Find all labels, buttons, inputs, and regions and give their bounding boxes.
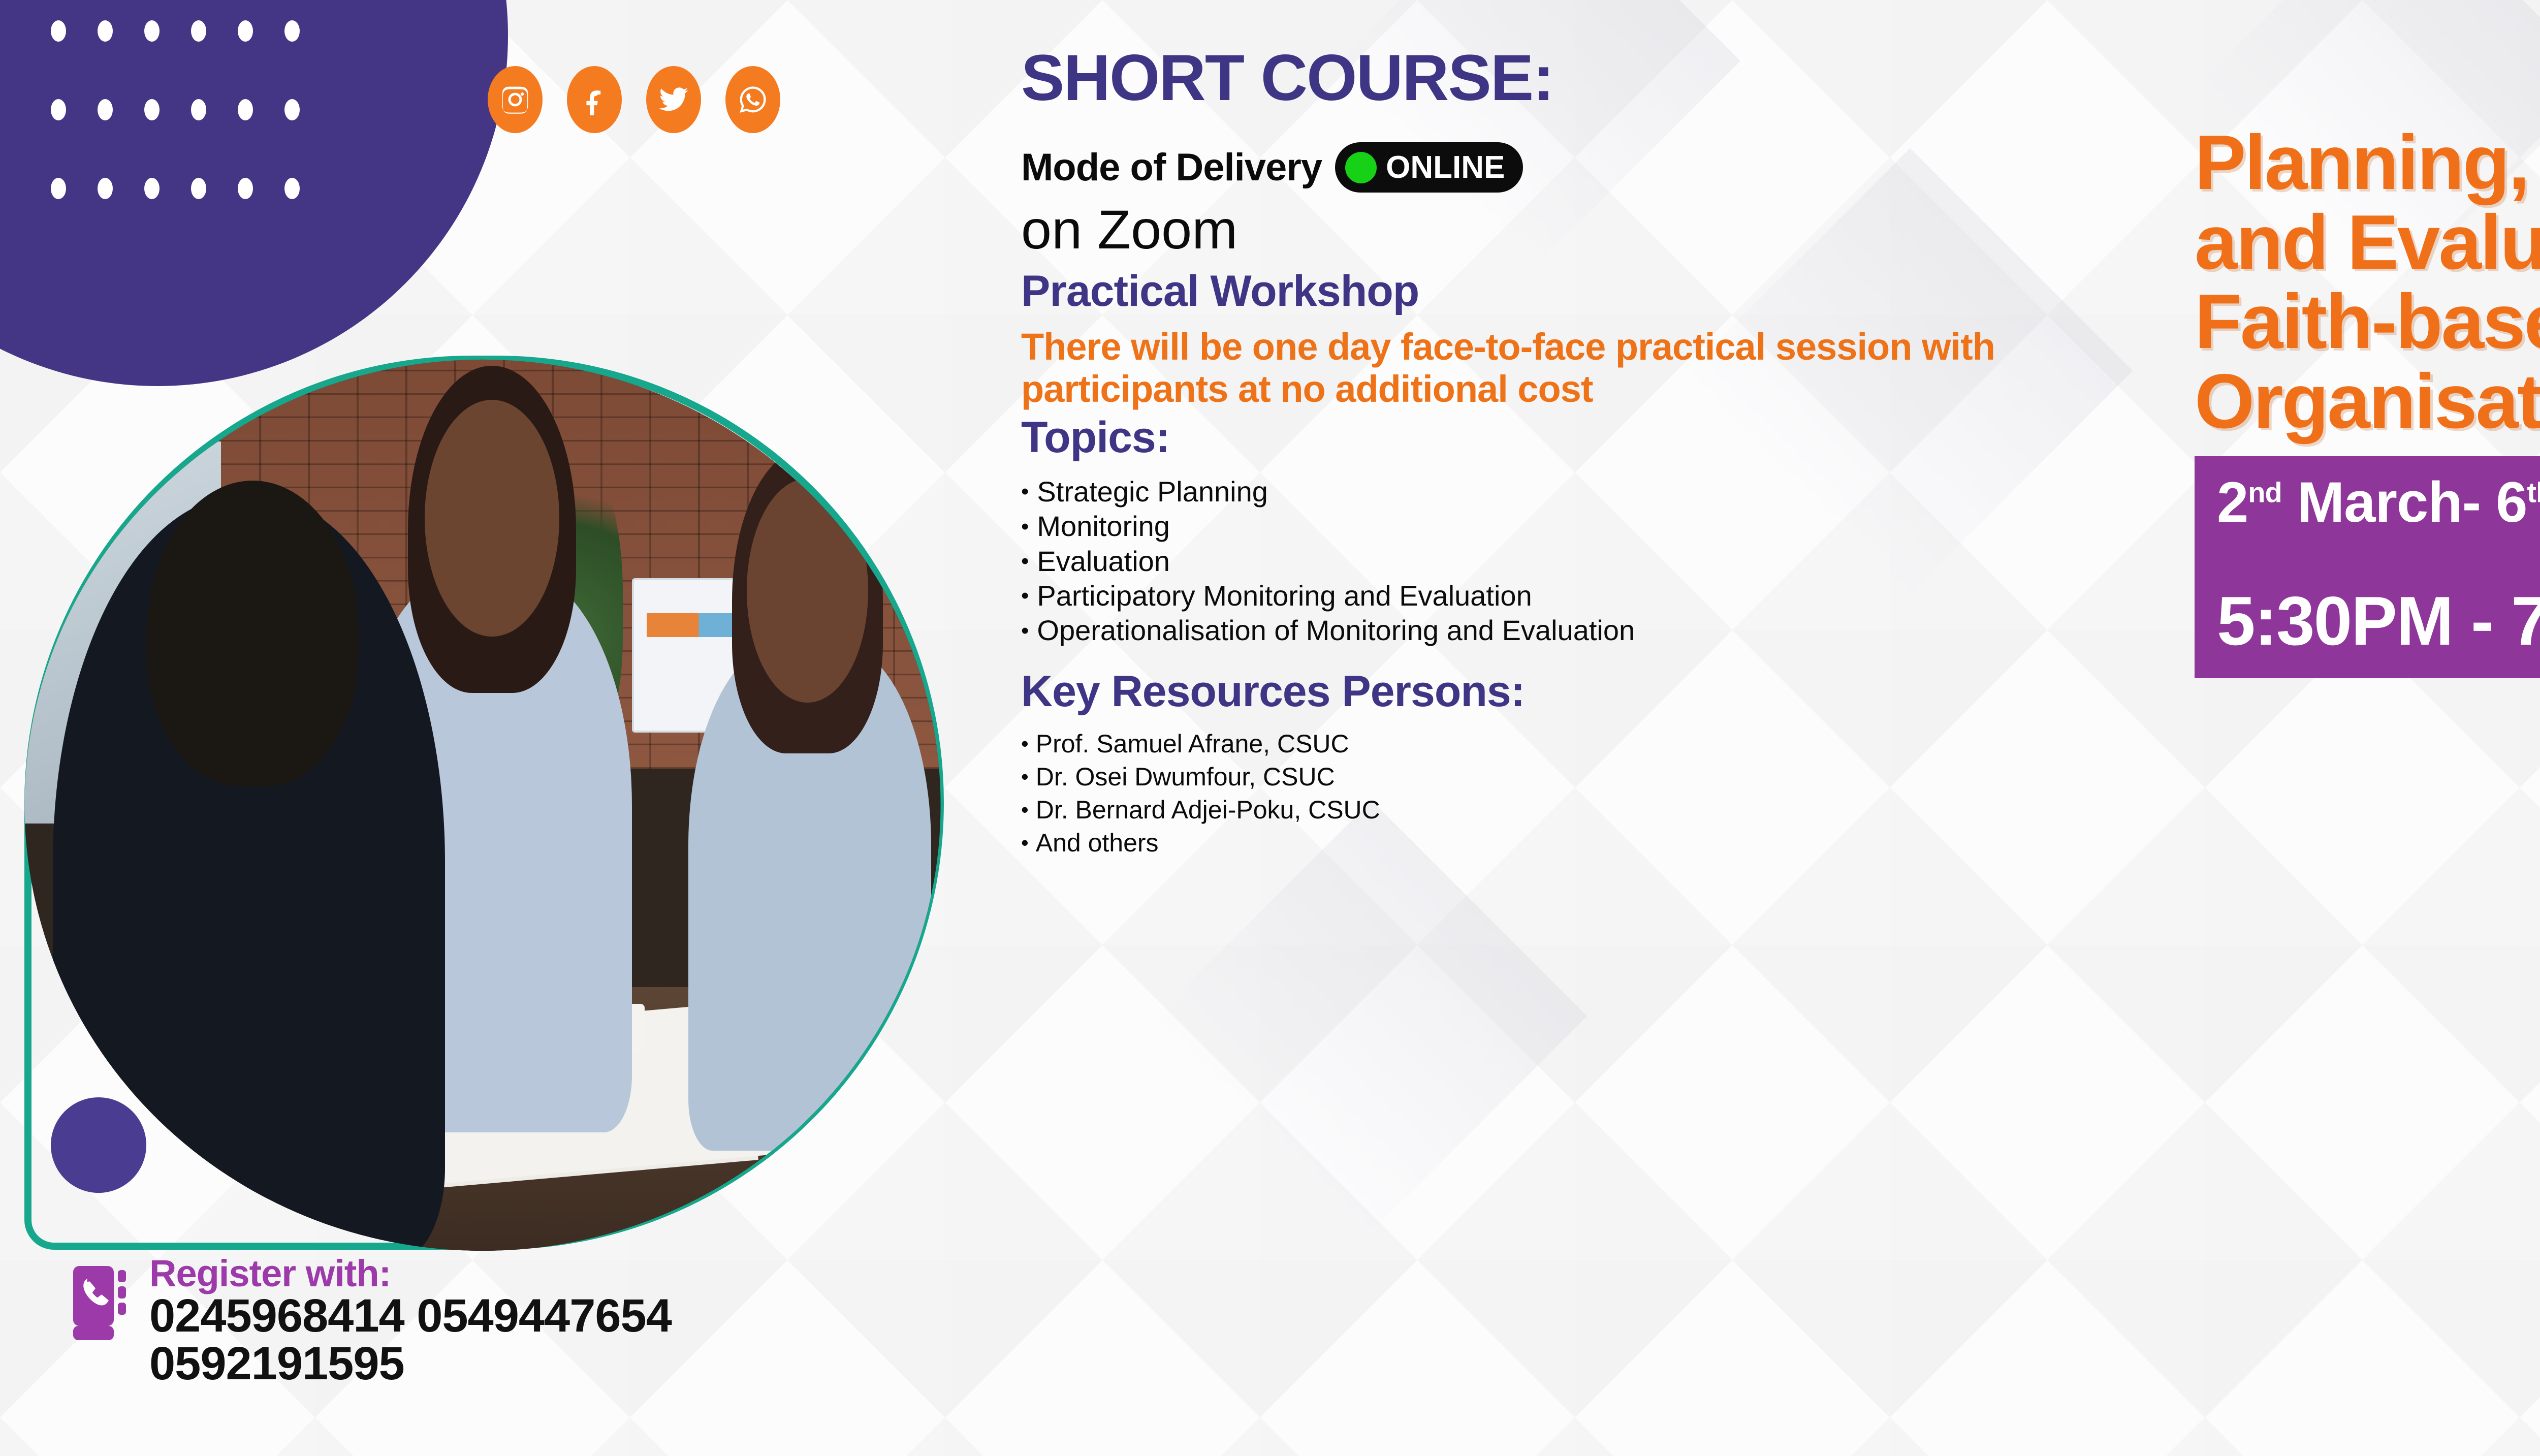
topics-list: Strategic Planning Monitoring Evaluation…: [1021, 474, 2205, 648]
mode-of-delivery-row: Mode of Delivery ONLINE: [1021, 142, 2205, 193]
topic-label: Participatory Monitoring and Evaluation: [1037, 579, 1532, 613]
theme-title-line-3: Faith-based: [2195, 282, 2540, 362]
resource-persons-heading: Key Resources Persons:: [1021, 670, 2205, 713]
schedule-box: 2nd March- 6th April 2023 (On Thursdays)…: [2195, 456, 2540, 678]
phonebook-icon: [71, 1265, 132, 1341]
theme-title-line-2: and Evaluation for: [2195, 203, 2540, 282]
register-phone-line-1[interactable]: 0245968414 0549447654: [149, 1292, 672, 1340]
date-start-day: 2: [2217, 470, 2248, 534]
resource-person-label: And others: [1036, 827, 1159, 860]
date-start-ordinal: nd: [2248, 477, 2281, 509]
resource-person-label: Prof. Samuel Afrane, CSUC: [1036, 727, 1349, 761]
list-item: And others: [1021, 827, 2205, 860]
short-course-heading: SHORT COURSE:: [1021, 46, 2205, 111]
schedule-date-line: 2nd March- 6th April 2023: [2217, 473, 2540, 531]
date-end-ordinal: th: [2527, 477, 2540, 509]
list-item: Dr. Osei Dwumfour, CSUC: [1021, 761, 2205, 794]
face-to-face-note: There will be one day face-to-face pract…: [1021, 326, 2205, 410]
online-badge: ONLINE: [1335, 142, 1523, 193]
date-start-month: March-: [2282, 470, 2496, 534]
list-item: Monitoring: [1021, 509, 2205, 544]
theme-title-line-4: Organisations (FBOs): [2195, 362, 2540, 441]
social-media-row: [488, 66, 780, 133]
participation-fees-note: (10% discount for first 20 people to reg…: [2195, 816, 2540, 854]
list-item: Evaluation: [1021, 544, 2205, 579]
practical-workshop-heading: Practical Workshop: [1021, 269, 2205, 313]
resource-persons-list: Prof. Samuel Afrane, CSUC Dr. Osei Dwumf…: [1021, 727, 2205, 860]
list-item: Strategic Planning: [1021, 474, 2205, 509]
schedule-recurrence: (On Thursdays): [2217, 533, 2540, 581]
theme-column: THEME Planning, Monitoring and Evaluatio…: [2195, 30, 2540, 854]
list-item: Prof. Samuel Afrane, CSUC: [1021, 727, 2205, 761]
platform-label: on Zoom: [1021, 201, 2205, 258]
theme-title-line-1: Planning, Monitoring: [2195, 123, 2540, 203]
date-end-day: 6: [2496, 470, 2527, 534]
online-status-dot: [1345, 152, 1377, 183]
purple-dot-decoration: [51, 1097, 146, 1193]
dot-grid-decoration: [51, 20, 331, 257]
whatsapp-icon[interactable]: [725, 66, 780, 133]
mode-of-delivery-label: Mode of Delivery: [1021, 145, 1322, 189]
facebook-icon[interactable]: [567, 66, 622, 133]
register-phone-line-2[interactable]: 0592191595: [149, 1340, 672, 1388]
theme-title: Planning, Monitoring and Evaluation for …: [2195, 123, 2540, 441]
online-badge-label: ONLINE: [1386, 149, 1505, 185]
participation-fees-heading: Participation fees:: [2195, 695, 2540, 751]
list-item: Operationalisation of Monitoring and Eva…: [1021, 613, 2205, 648]
topics-heading: Topics:: [1021, 416, 2205, 459]
list-item: Participatory Monitoring and Evaluation: [1021, 579, 2205, 613]
instagram-icon[interactable]: [488, 66, 543, 133]
register-block: Register with: 0245968414 0549447654 059…: [71, 1255, 672, 1388]
register-title: Register with:: [149, 1255, 672, 1292]
resource-person-label: Dr. Bernard Adjei-Poku, CSUC: [1036, 794, 1380, 827]
topic-label: Evaluation: [1037, 544, 1170, 579]
schedule-time: 5:30PM - 7:30 PM: [2217, 586, 2540, 656]
topic-label: Operationalisation of Monitoring and Eva…: [1037, 613, 1635, 648]
list-item: Dr. Bernard Adjei-Poku, CSUC: [1021, 794, 2205, 827]
topic-label: Strategic Planning: [1037, 474, 1268, 509]
twitter-icon[interactable]: [646, 66, 701, 133]
participation-fees-amount: GHc 800: [2195, 758, 2540, 811]
course-details-column: SHORT COURSE: Mode of Delivery ONLINE on…: [1021, 46, 2205, 860]
topic-label: Monitoring: [1037, 509, 1169, 544]
resource-person-label: Dr. Osei Dwumfour, CSUC: [1036, 761, 1335, 794]
theme-label: THEME: [2195, 30, 2540, 106]
